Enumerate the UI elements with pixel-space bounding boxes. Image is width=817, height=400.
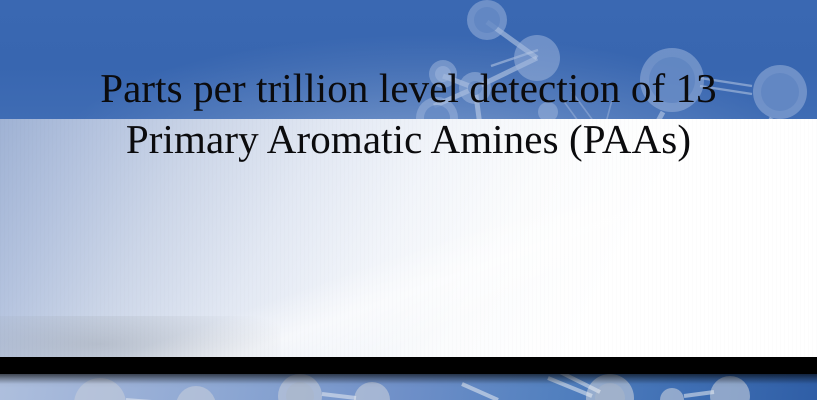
panel-shadow-bar: [0, 357, 817, 374]
title-slide: Parts per trillion level detection of 13…: [0, 0, 817, 400]
slide-title-line-1: Parts per trillion level detection of 13: [100, 63, 717, 113]
slide-title-line-2: Primary Aromatic Amines (PAAs): [126, 114, 691, 164]
title-block: Parts per trillion level detection of 13…: [0, 0, 817, 241]
panel-smudge: [0, 316, 280, 360]
